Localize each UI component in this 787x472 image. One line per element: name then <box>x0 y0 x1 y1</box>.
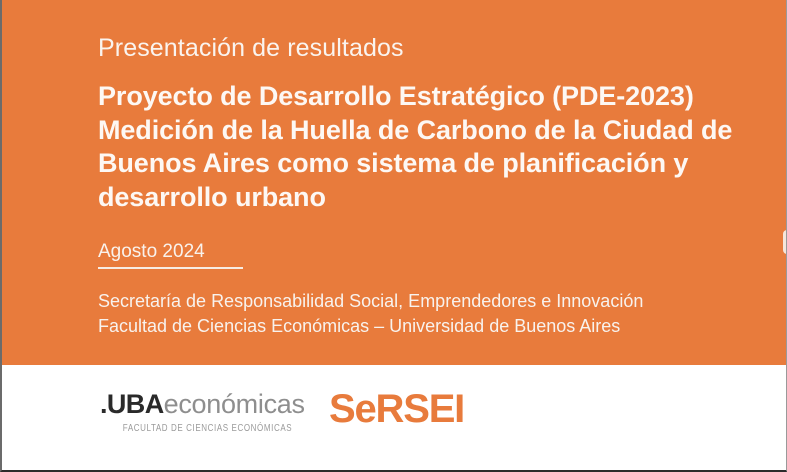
title-line-2: Medición de la Huella de Carbono de la C… <box>98 114 778 148</box>
logo-strip: .UBAeconómicas FACULTAD DE CIENCIAS ECON… <box>2 365 787 470</box>
title-line-4: desarrollo urbano <box>98 181 778 215</box>
right-edge-sliver <box>783 230 787 254</box>
title-line-1: Proyecto de Desarrollo Estratégico (PDE-… <box>98 80 778 114</box>
presentation-title-slide: Presentación de resultados Proyecto de D… <box>0 0 787 472</box>
uba-logo-subtitle: FACULTAD DE CIENCIAS ECONÓMICAS <box>100 422 315 435</box>
hero-content: Presentación de resultados Proyecto de D… <box>98 0 771 365</box>
uba-economicas-logo: .UBAeconómicas FACULTAD DE CIENCIAS ECON… <box>100 389 315 432</box>
uba-mark-text: .UBA <box>100 389 164 419</box>
hero-panel: Presentación de resultados Proyecto de D… <box>2 0 787 365</box>
slide-title: Proyecto de Desarrollo Estratégico (PDE-… <box>98 80 778 214</box>
slide-eyebrow: Presentación de resultados <box>98 33 404 63</box>
affiliation-line-2: Facultad de Ciencias Económicas – Univer… <box>98 314 643 339</box>
affiliation-line-1: Secretaría de Responsabilidad Social, Em… <box>98 289 643 314</box>
uba-economicas-text: económicas <box>164 389 305 419</box>
title-line-3: Buenos Aires como sistema de planificaci… <box>98 147 778 181</box>
sersei-logo: SeRSEI <box>329 387 464 431</box>
slide-date: Agosto 2024 <box>98 240 205 264</box>
uba-wordmark: .UBAeconómicas <box>100 389 315 419</box>
date-underline-rule <box>98 267 243 269</box>
slide-affiliation: Secretaría de Responsabilidad Social, Em… <box>98 289 643 339</box>
